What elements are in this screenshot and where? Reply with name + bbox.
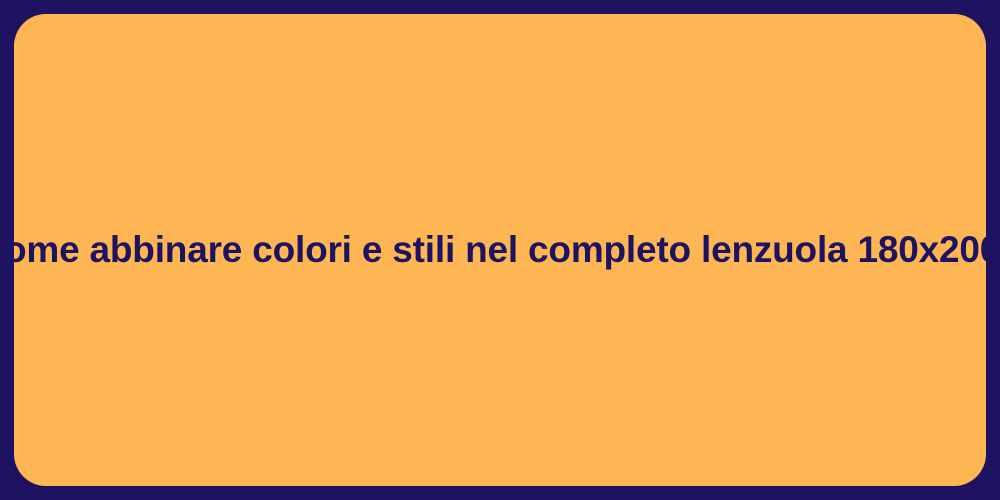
headline-card: Come abbinare colori e stili nel complet… <box>14 14 986 486</box>
card-content: Come abbinare colori e stili nel complet… <box>14 227 986 273</box>
page-background: Come abbinare colori e stili nel complet… <box>0 0 1000 500</box>
page-title: Come abbinare colori e stili nel complet… <box>14 227 986 273</box>
